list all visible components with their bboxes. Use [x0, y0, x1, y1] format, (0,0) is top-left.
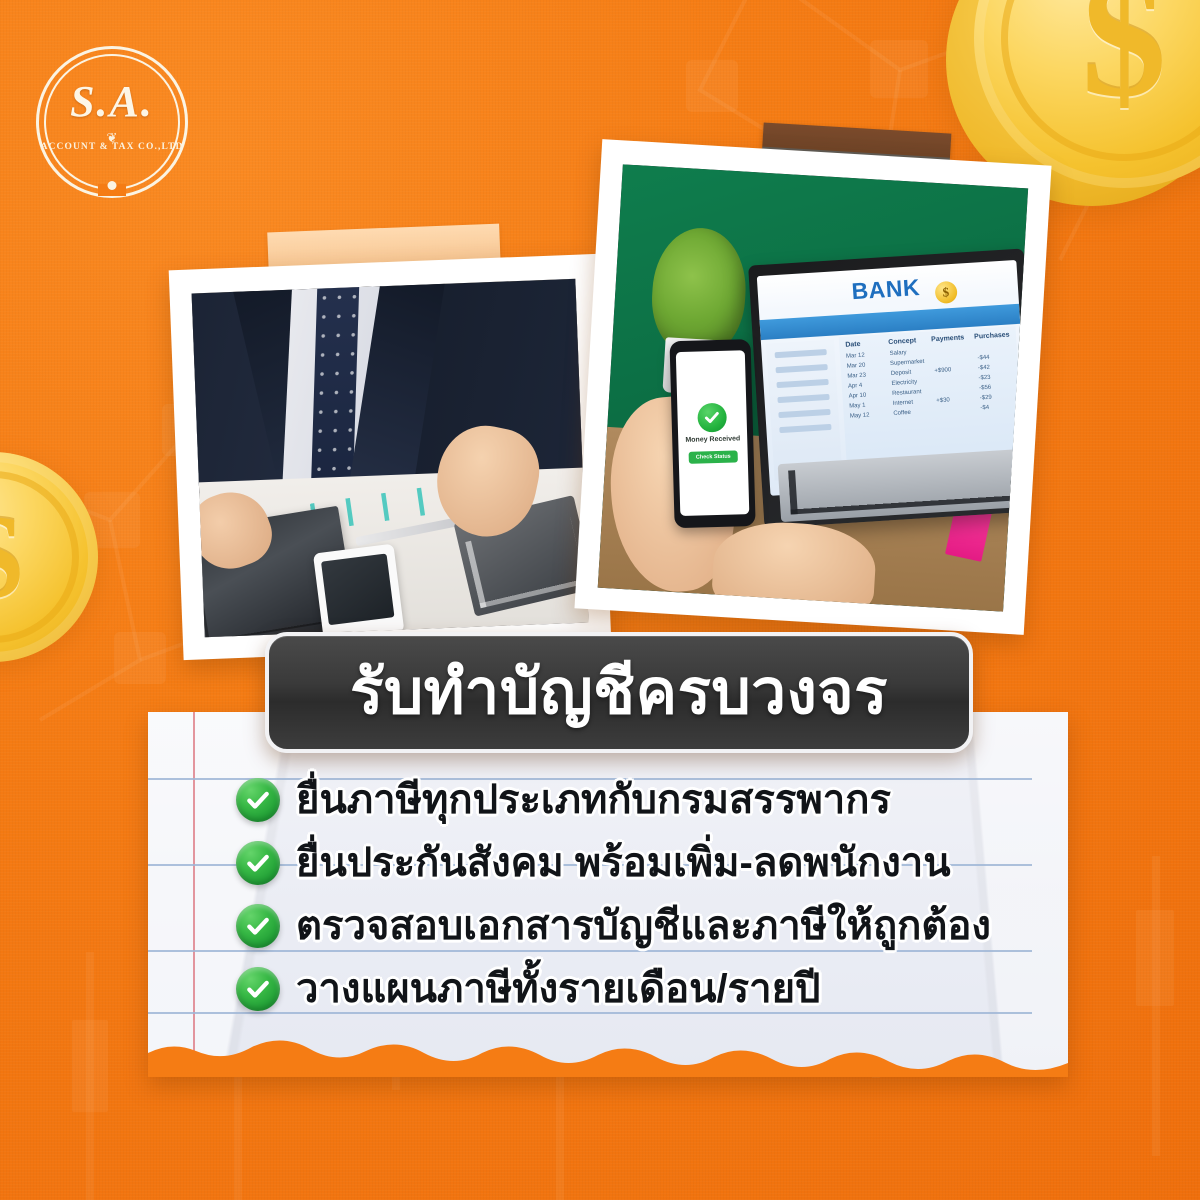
check-circle-icon: [697, 403, 726, 432]
list-item: วางแผนภาษีทั้งรายเดือน/รายปี: [236, 957, 1056, 1020]
bank-coin-icon: $: [934, 281, 957, 304]
list-item-label: ยื่นภาษีทุกประเภทกับกรมสรรพากร: [296, 779, 891, 821]
coin-dollar-symbol: $: [974, 0, 1200, 188]
phone-status-title: Money Received: [685, 435, 740, 445]
list-item: ยื่นภาษีทุกประเภทกับกรมสรรพากร: [236, 768, 1056, 831]
list-item: ยื่นประกันสังคม พร้อมเพิ่ม-ลดพนักงาน: [236, 831, 1056, 894]
list-item-label: ตรวจสอบเอกสารบัญชีและภาษีให้ถูกต้อง: [296, 905, 991, 947]
col-concept: Concept: [888, 337, 921, 346]
col-purchases: Purchases: [974, 332, 1010, 341]
list-item-label: ยื่นประกันสังคม พร้อมเพิ่ม-ลดพนักงาน: [296, 842, 951, 884]
logo-monogram: S.A.: [36, 76, 188, 127]
check-circle-icon: [236, 778, 280, 822]
bank-brand-label: BANK: [851, 275, 921, 306]
check-circle-icon: [236, 967, 280, 1011]
title-banner: รับทำบัญชีครบวงจร: [265, 632, 973, 753]
bank-sidebar: [767, 340, 843, 481]
logo-subtitle: ACCOUNT & TAX CO.,LTD: [36, 142, 188, 152]
coin-dollar-symbol-left: $: [0, 452, 98, 662]
list-item: ตรวจสอบเอกสารบัญชีและภาษีให้ถูกต้อง: [236, 894, 1056, 957]
gold-coin-stack-icon: $: [974, 0, 1200, 188]
photo-online-banking: BANK $ Date Concept Payments Purchases: [574, 139, 1051, 635]
page-title: รับทำบัญชีครบวงจร: [350, 662, 888, 724]
check-circle-icon: [236, 841, 280, 885]
poster-canvas: $ $ S.A. ❦ ACCOUNT & TAX CO.,LTD: [0, 0, 1200, 1200]
check-circle-icon: [236, 904, 280, 948]
list-item-label: วางแผนภาษีทั้งรายเดือน/รายปี: [296, 968, 820, 1010]
sa-account-tax-logo: S.A. ❦ ACCOUNT & TAX CO.,LTD: [36, 46, 188, 198]
col-payments: Payments: [931, 334, 964, 343]
service-checklist: ยื่นภาษีทุกประเภทกับกรมสรรพากร ยื่นประกั…: [236, 768, 1056, 1020]
paper-margin-line: [193, 712, 195, 1077]
phone-action-button[interactable]: Check Status: [689, 450, 738, 463]
gold-coin-icon: $: [0, 452, 98, 662]
torn-paper-edge: [148, 1033, 1068, 1077]
col-date: Date: [845, 340, 878, 349]
photo-businessman-desk: [169, 254, 612, 660]
